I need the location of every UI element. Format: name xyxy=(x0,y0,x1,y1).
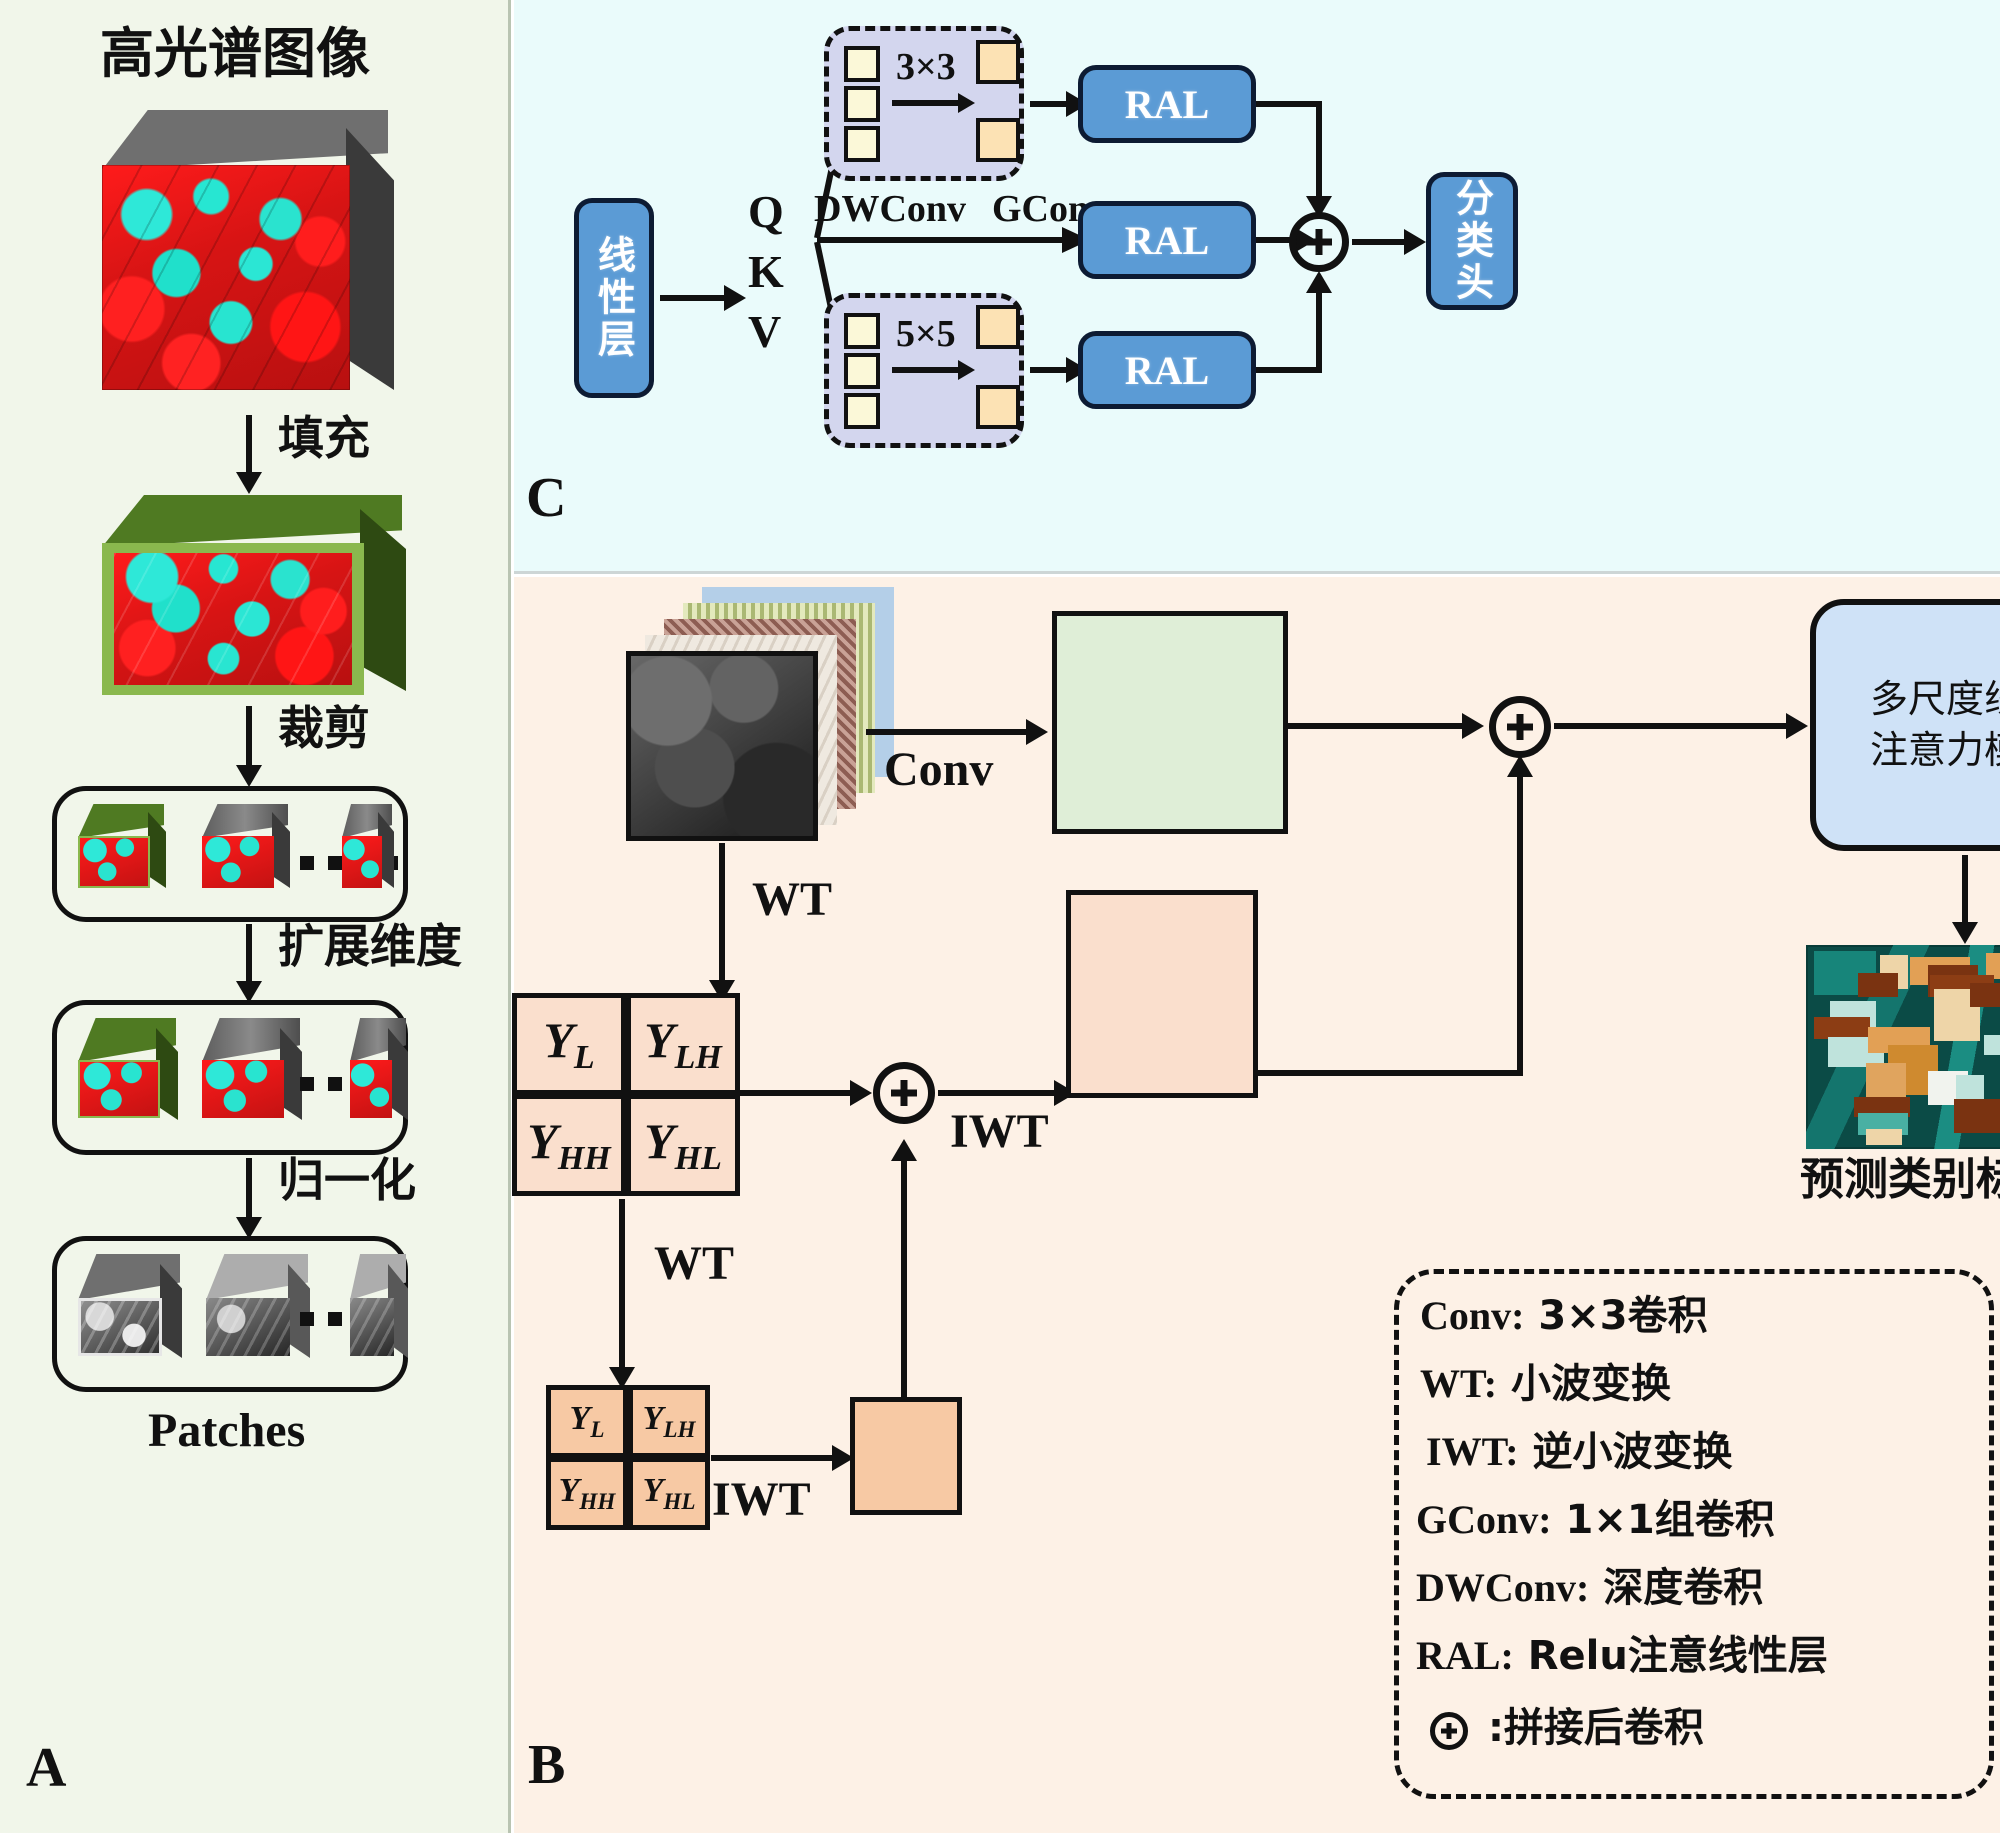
expanded-patch-1 xyxy=(72,1018,182,1136)
legend-row-sum: :拼接后卷积 xyxy=(1430,1695,1704,1753)
prediction-map xyxy=(1806,945,2000,1149)
arrow-line-attention-to-prediction xyxy=(1962,855,1968,927)
arrow-head-featuremap-to-plus xyxy=(1462,713,1484,739)
legend-key-iwt: IWT: xyxy=(1426,1429,1519,1474)
legend-row-dwconv: DWConv: 深度卷积 xyxy=(1416,1555,1763,1613)
arrow-head-attention-to-prediction xyxy=(1952,922,1978,944)
linear-layer-label: 线性层 xyxy=(587,235,642,361)
wavelet1-cell-YHH: YHH xyxy=(512,1094,626,1196)
ral-block-top[interactable]: RAL xyxy=(1078,65,1256,143)
expanded-patch-n xyxy=(292,1018,408,1136)
normalized-patch-1 xyxy=(72,1254,188,1374)
arrow-head-bottom-into-plus xyxy=(1306,271,1332,293)
arrow-head-crop xyxy=(236,765,262,787)
wavelet2-YHH-sub: HH xyxy=(579,1488,615,1514)
panel-a-step-label-pad: 填充 xyxy=(278,414,370,462)
dwconv-label: DWConv xyxy=(814,190,966,230)
kernel-out-cell-3x3-2 xyxy=(976,118,1020,162)
wavelet2-YHL-base: Y xyxy=(643,1472,664,1509)
panel-a: 高光谱图像 填充 裁剪 xyxy=(0,0,511,1833)
kernel-out-cell-5x5-1 xyxy=(976,305,1020,349)
wavelet1-YHL-base: Y xyxy=(644,1113,675,1169)
kernel-out-cell-5x5-2 xyxy=(976,385,1020,429)
kernel-in-cell-5x5-1 xyxy=(844,313,880,349)
wavelet1-YLH-sub: LH xyxy=(675,1039,722,1076)
panel-a-step-label-expand: 扩展维度 xyxy=(278,922,462,970)
kernel-in-cell-3x3-2 xyxy=(844,86,880,122)
panel-b: Conv 多尺度线性 注意力模块 xyxy=(514,577,2000,1833)
padded-cube-side-face xyxy=(360,509,406,691)
wavelet1-YLH-base: Y xyxy=(644,1012,675,1068)
legend-value-sum: :拼接后卷积 xyxy=(1488,1705,1704,1751)
wire-ral-top-down xyxy=(1316,101,1322,199)
ral-block-top-label: RAL xyxy=(1125,81,1209,128)
wavelet2-cell-YLH: YLH xyxy=(628,1385,710,1458)
legend-row-iwt: IWT: 逆小波变换 xyxy=(1426,1419,1733,1477)
attention-module-block[interactable]: 多尺度线性 注意力模块 xyxy=(1810,599,2000,851)
wt-label-1: WT xyxy=(752,875,832,925)
wavelet2-cell-YHH: YHH xyxy=(546,1457,628,1530)
hyperspectral-cube xyxy=(88,110,408,410)
iwt-label-2: IWT xyxy=(712,1475,811,1525)
arrow-line-pad xyxy=(246,415,252,475)
cropped-patch-2 xyxy=(196,804,292,900)
wire-ral-bottom-right xyxy=(1256,367,1322,373)
legend-row-wt: WT: 小波变换 xyxy=(1420,1351,1671,1409)
expanded-patch-2 xyxy=(196,1018,306,1136)
classification-head-label: 分类头 xyxy=(1445,178,1500,304)
normalized-patch-n xyxy=(296,1254,408,1374)
wavelet1-YHH-sub: HH xyxy=(558,1140,611,1177)
patch-front xyxy=(202,1060,284,1118)
legend-key-dwconv: DWConv: xyxy=(1416,1565,1589,1610)
iwt2-output-map xyxy=(850,1397,962,1515)
legend-value-gconv: 1×1组卷积 xyxy=(1566,1497,1775,1543)
kernel-out-cell-3x3-1 xyxy=(976,40,1020,84)
conv-label: Conv xyxy=(884,745,993,795)
legend-value-conv: 3×3卷积 xyxy=(1538,1293,1707,1339)
kernel-size-label-3x3: 3×3 xyxy=(896,48,956,88)
legend-key-conv: Conv: xyxy=(1420,1293,1524,1338)
panel-a-title: 高光谱图像 xyxy=(100,26,370,83)
arrow-line-conv xyxy=(866,729,1034,735)
cropped-patch-n xyxy=(286,804,382,900)
sum-node-panel-c xyxy=(1289,212,1349,272)
ral-block-middle-label: RAL xyxy=(1125,217,1209,264)
wavelet1-YHH-base: Y xyxy=(527,1113,558,1169)
legend-value-dwconv: 深度卷积 xyxy=(1603,1565,1763,1611)
arrow-line-wt-2 xyxy=(619,1199,625,1371)
padded-cube-top-face xyxy=(102,495,402,547)
legend-key-wt: WT: xyxy=(1420,1361,1497,1406)
legend-row-conv: Conv: 3×3卷积 xyxy=(1420,1283,1708,1341)
legend-plus-icon xyxy=(1430,1712,1468,1750)
patch-front xyxy=(206,1298,290,1356)
wavelet2-YLH-base: Y xyxy=(643,1400,664,1437)
panel-a-footer: Patches xyxy=(148,1406,305,1456)
prediction-caption: 预测类别标签 xyxy=(1800,1157,2000,1203)
arrow-head-linear-to-qkv xyxy=(724,285,746,311)
arrow-line-plus-to-attention xyxy=(1554,723,1796,729)
arrow-line-norm xyxy=(246,1158,252,1220)
cropped-patch-1 xyxy=(72,804,168,900)
arrow-line-plus-to-classifier xyxy=(1352,239,1410,245)
padded-cube-front-face xyxy=(114,553,352,685)
patch-front xyxy=(350,1060,392,1118)
wt-label-2: WT xyxy=(654,1239,734,1289)
arrow-line-wt-1 xyxy=(719,843,725,983)
patch-front xyxy=(78,1060,160,1118)
wavelet2-YL-sub: L xyxy=(590,1416,604,1442)
kernel-arrow-head-3x3 xyxy=(958,93,975,113)
arrow-head-conv xyxy=(1026,719,1048,745)
legend-row-ral: RAL: Relu注意线性层 xyxy=(1416,1623,1828,1681)
ral-block-bottom[interactable]: RAL xyxy=(1078,331,1256,409)
wavelet1-YL-sub: L xyxy=(574,1039,595,1076)
ral-block-bottom-label: RAL xyxy=(1125,347,1209,394)
wavelet2-YHL-sub: HL xyxy=(663,1488,695,1514)
kernel-arrow-line-3x3 xyxy=(892,100,962,106)
wavelet2-YLH-sub: LH xyxy=(663,1416,695,1442)
panel-b-label: B xyxy=(528,1737,565,1793)
kernel-in-cell-5x5-2 xyxy=(844,353,880,389)
wavelet1-cell-YLH: YLH xyxy=(626,993,740,1095)
wire-ral-top-right xyxy=(1256,101,1322,107)
wavelet2-cell-YHL: YHL xyxy=(628,1457,710,1530)
panel-c-label: C xyxy=(526,470,566,526)
legend-key-gconv: GConv: xyxy=(1416,1497,1552,1542)
figure-canvas: 高光谱图像 填充 裁剪 xyxy=(0,0,2000,1833)
classification-head-block[interactable]: 分类头 xyxy=(1426,172,1518,310)
legend-row-gconv: GConv: 1×1组卷积 xyxy=(1416,1487,1775,1545)
kernel-size-label-5x5: 5×5 xyxy=(896,315,956,355)
patch-front xyxy=(202,836,274,888)
patch-front xyxy=(350,1298,394,1356)
sum-node-panel-b-top xyxy=(1489,696,1551,758)
wire-reconstructed-horizontal xyxy=(1258,1070,1523,1076)
wavelet1-cell-YL: YL xyxy=(512,993,626,1095)
panel-a-label: A xyxy=(26,1740,66,1796)
attention-module-label-line2: 注意力模块 xyxy=(1870,725,2000,776)
patch-front xyxy=(78,1298,162,1356)
padded-cube xyxy=(92,495,422,705)
wavelet2-YL-base: Y xyxy=(570,1400,591,1437)
arrow-line-linear-to-qkv xyxy=(660,295,728,301)
arrow-head-iwt2-to-middle-plus xyxy=(891,1139,917,1161)
qkv-label-k: K xyxy=(748,248,784,296)
linear-layer-block[interactable]: 线性层 xyxy=(574,198,654,398)
panel-a-step-label-norm: 归一化 xyxy=(278,1156,416,1204)
arrow-line-iwt-2 xyxy=(711,1455,841,1461)
qkv-label-q: Q xyxy=(748,188,784,236)
arrow-head-plus-to-attention xyxy=(1786,713,1808,739)
sum-node-panel-b-middle xyxy=(873,1062,935,1124)
cube-side-face xyxy=(346,128,394,390)
feature-stack-layer-gray xyxy=(626,651,818,841)
panel-c: 线性层 Q K V DWConv GConv 3×3 xyxy=(514,0,2000,574)
patch-front xyxy=(342,836,382,888)
reconstructed-feature-map xyxy=(1066,890,1258,1098)
cube-front-face xyxy=(102,165,350,390)
legend-value-wt: 小波变换 xyxy=(1511,1361,1671,1407)
wavelet2-cell-YL: YL xyxy=(546,1385,628,1458)
kernel-in-cell-3x3-3 xyxy=(844,126,880,162)
iwt-label-1: IWT xyxy=(950,1107,1049,1157)
arrow-line-crop xyxy=(246,706,252,768)
arrow-head-plus-to-classifier xyxy=(1404,229,1426,255)
panel-a-step-label-crop: 裁剪 xyxy=(278,704,370,752)
legend-value-iwt: 逆小波变换 xyxy=(1533,1429,1733,1475)
arrow-head-wavelet1-to-plus xyxy=(850,1080,872,1106)
wavelet1-YL-base: Y xyxy=(543,1012,574,1068)
kernel-arrow-line-5x5 xyxy=(892,367,962,373)
arrow-line-expand xyxy=(246,924,252,984)
wire-iwt2-to-middle-plus xyxy=(901,1157,907,1399)
wavelet1-YHL-sub: HL xyxy=(675,1140,722,1177)
arrow-line-iwt-1 xyxy=(938,1090,1062,1096)
legend-value-ral: Relu注意线性层 xyxy=(1528,1633,1828,1679)
wavelet1-cell-YHL: YHL xyxy=(626,1094,740,1196)
kernel-arrow-head-5x5 xyxy=(958,360,975,380)
kernel-in-cell-5x5-3 xyxy=(844,393,880,429)
kernel-in-cell-3x3-1 xyxy=(844,46,880,82)
wire-reconstructed-up xyxy=(1517,773,1523,1076)
attention-module-label-line1: 多尺度线性 xyxy=(1870,674,2000,725)
conv-feature-map xyxy=(1052,611,1288,834)
arrow-head-pad xyxy=(236,472,262,494)
wire-featuremap-to-plus xyxy=(1284,723,1478,729)
qkv-label-v: V xyxy=(748,308,781,356)
cube-top-face xyxy=(102,110,388,170)
wire-wavelet1-to-plus xyxy=(740,1090,862,1096)
wire-ral-bottom-up xyxy=(1316,284,1322,373)
legend-key-ral: RAL: xyxy=(1416,1633,1514,1678)
patch-front xyxy=(78,836,150,888)
ral-block-middle[interactable]: RAL xyxy=(1078,201,1256,279)
wavelet2-YHH-base: Y xyxy=(559,1472,580,1509)
